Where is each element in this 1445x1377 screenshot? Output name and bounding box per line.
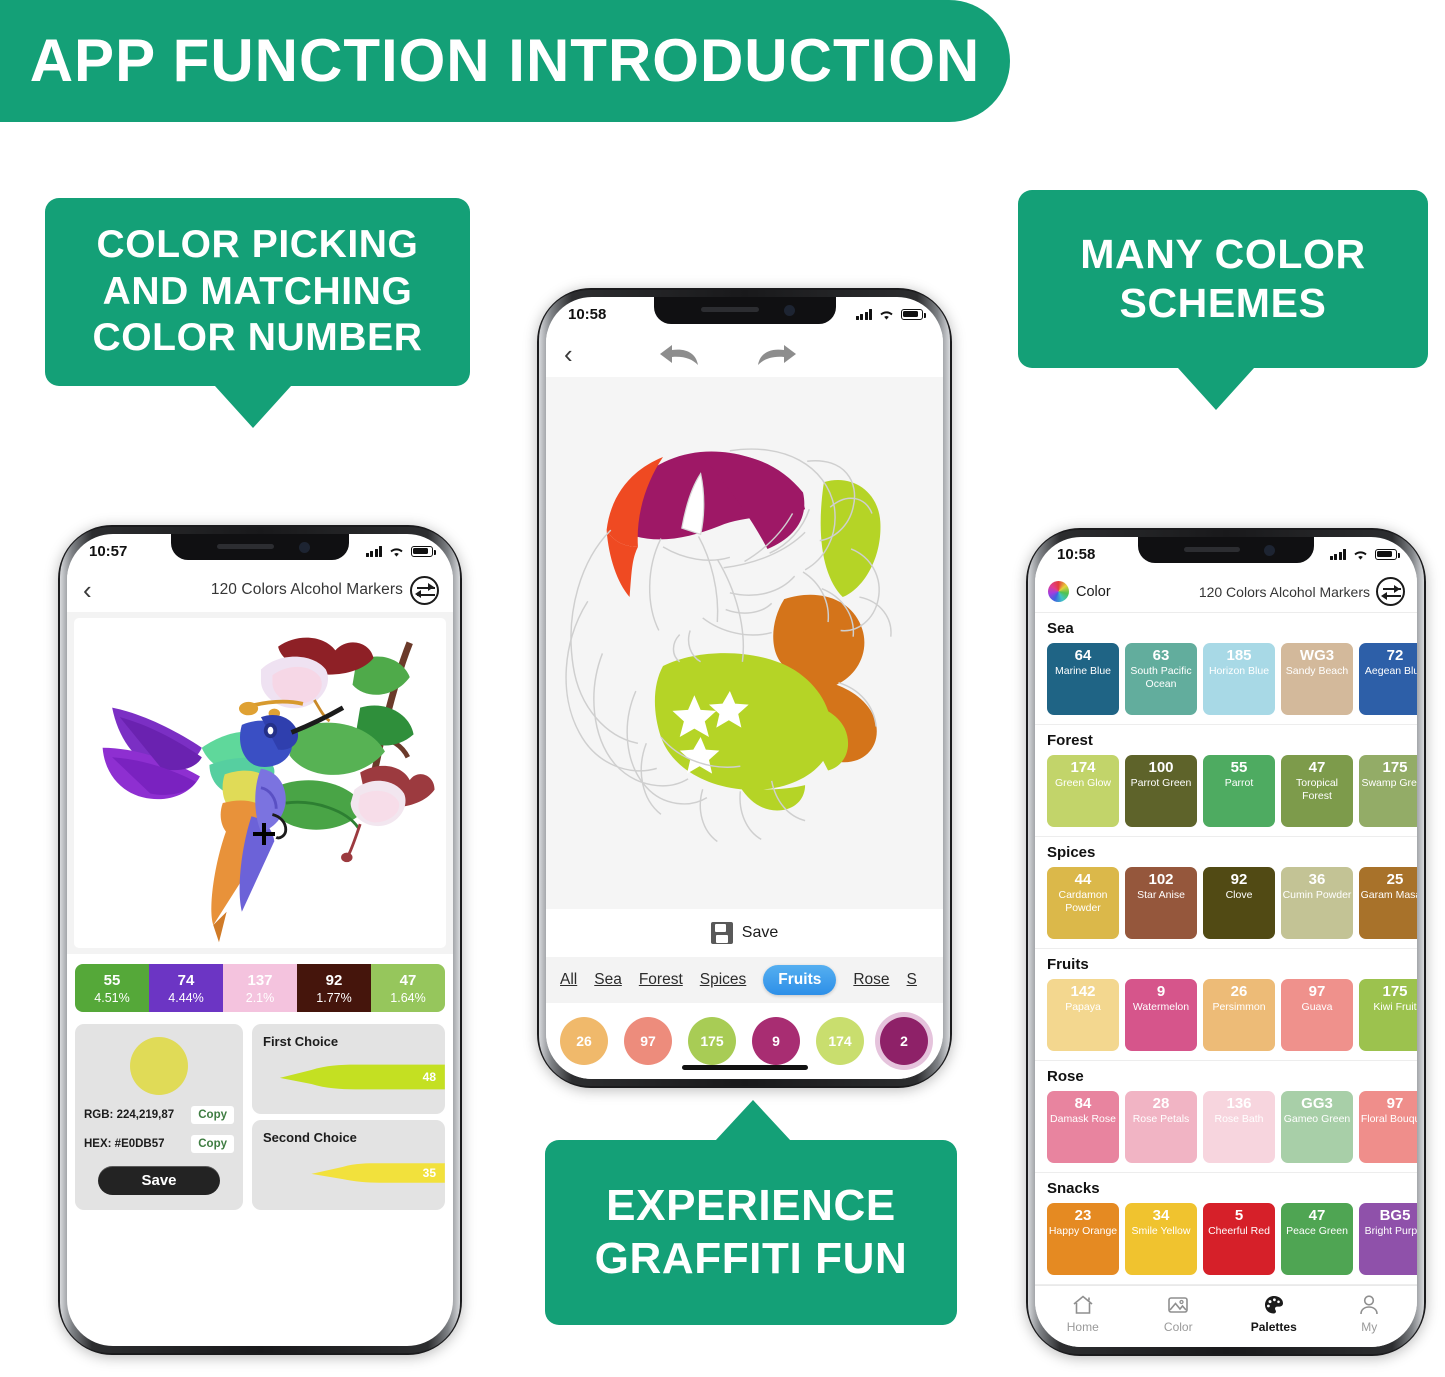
palette-group-snacks: Snacks 23 Happy Orange 34 Smile Yellow 5… xyxy=(1035,1173,1417,1285)
swatch-name: Peace Green xyxy=(1286,1225,1348,1238)
color-dot-number: 175 xyxy=(700,1033,723,1049)
swatch-name: Clove xyxy=(1226,889,1253,902)
swatch-name: Horizon Blue xyxy=(1209,665,1269,678)
percent-cell[interactable]: 74 4.44% xyxy=(149,964,223,1012)
callout-left-tail xyxy=(215,386,291,428)
swatch-card[interactable]: WG3 Sandy Beach xyxy=(1281,643,1353,715)
percent-cell[interactable]: 55 4.51% xyxy=(75,964,149,1012)
color-picker-crosshair-icon[interactable] xyxy=(253,823,275,845)
percent-cell[interactable]: 137 2.1% xyxy=(223,964,297,1012)
page-title-banner: APP FUNCTION INTRODUCTION xyxy=(0,0,1010,122)
percent-cell[interactable]: 47 1.64% xyxy=(371,964,445,1012)
percent-cell-value: 4.44% xyxy=(168,991,203,1005)
swatch-card[interactable]: 55 Parrot xyxy=(1203,755,1275,827)
swatch-name: South Pacific Ocean xyxy=(1125,665,1197,691)
wifi-icon xyxy=(1352,548,1369,561)
swatch-number: 142 xyxy=(1070,983,1095,1000)
swatch-name: Watermelon xyxy=(1133,1001,1189,1014)
status-time: 10:57 xyxy=(89,543,127,560)
phone-color-picker: 10:57 ‹ 120 Colors Alcohol Markers xyxy=(58,525,462,1355)
marker-set-title: 120 Colors Alcohol Markers xyxy=(1199,584,1370,600)
swatch-row: 84 Damask Rose 28 Rose Petals 136 Rose B… xyxy=(1047,1091,1417,1163)
swatch-card[interactable]: 26 Persimmon xyxy=(1203,979,1275,1051)
palette-group-forest: Forest 174 Green Glow 100 Parrot Green 5… xyxy=(1035,725,1417,837)
second-choice-number: 35 xyxy=(423,1166,436,1180)
group-title: Spices xyxy=(1047,844,1417,861)
callout-right-text: MANY COLOR SCHEMES xyxy=(1080,230,1365,328)
tab-label: Home xyxy=(1067,1320,1099,1334)
screen-left: 10:57 ‹ 120 Colors Alcohol Markers xyxy=(67,534,453,1346)
callout-left-bubble: COLOR PICKING AND MATCHING COLOR NUMBER xyxy=(45,198,470,386)
palette-list[interactable]: Sea 64 Marine Blue 63 South Pacific Ocea… xyxy=(1035,613,1417,1285)
swatch-number: 34 xyxy=(1153,1207,1170,1224)
bottom-tab-bar: Home Color Palettes xyxy=(1035,1285,1417,1347)
unicorn-artwork xyxy=(546,377,943,909)
swap-arrows-icon[interactable] xyxy=(410,576,439,605)
swatch-name: Guava xyxy=(1302,1001,1333,1014)
color-dot[interactable]: 97 xyxy=(624,1017,672,1065)
swatch-name: Sandy Beach xyxy=(1286,665,1348,678)
drawing-canvas[interactable] xyxy=(546,377,943,909)
swatch-name: Rose Bath xyxy=(1214,1113,1263,1126)
group-title: Fruits xyxy=(1047,956,1417,973)
swatch-number: 23 xyxy=(1075,1207,1092,1224)
swatch-name: Gameo Green xyxy=(1284,1113,1351,1126)
swatch-name: Green Glow xyxy=(1055,777,1111,790)
artwork-canvas[interactable] xyxy=(74,618,446,948)
swatch-row: 44 Cardamon Powder 102 Star Anise 92 Clo… xyxy=(1047,867,1417,939)
swatch-card[interactable]: 72 Aegean Blue xyxy=(1359,643,1417,715)
swatch-name: Toropical Forest xyxy=(1281,777,1353,803)
second-choice-marker: 35 xyxy=(275,1158,445,1188)
swatch-number: 97 xyxy=(1387,1095,1404,1112)
status-icons xyxy=(856,308,924,321)
callout-right-tail xyxy=(1178,368,1254,410)
swatch-number: 5 xyxy=(1235,1207,1243,1224)
tab-label: My xyxy=(1361,1320,1377,1334)
group-title: Snacks xyxy=(1047,1180,1417,1197)
color-nav-label: Color xyxy=(1076,584,1111,600)
swatch-name: Marine Blue xyxy=(1055,665,1111,678)
color-dot[interactable]: 9 xyxy=(752,1017,800,1065)
swatch-number: 174 xyxy=(1070,759,1095,776)
swatch-number: 44 xyxy=(1075,871,1092,888)
swatch-number: WG3 xyxy=(1300,647,1334,664)
swatch-card[interactable]: 92 Clove xyxy=(1203,867,1275,939)
swatch-name: Cheerful Red xyxy=(1208,1225,1270,1238)
percent-cell-value: 2.1% xyxy=(246,991,275,1005)
battery-icon xyxy=(1375,549,1397,560)
category-tabs[interactable]: All Sea Forest Spices Fruits Rose S xyxy=(546,957,943,1003)
group-title: Sea xyxy=(1047,620,1417,637)
status-icons xyxy=(366,545,434,558)
callout-left-text: COLOR PICKING AND MATCHING COLOR NUMBER xyxy=(92,222,422,362)
swatch-number: 100 xyxy=(1148,759,1173,776)
swatch-card[interactable]: 175 Swamp Green xyxy=(1359,755,1417,827)
tab-forest[interactable]: Forest xyxy=(639,971,683,989)
swatch-number: 36 xyxy=(1309,871,1326,888)
tab-rose[interactable]: Rose xyxy=(853,971,889,989)
swatch-name: Garam Masala xyxy=(1361,889,1417,902)
palettes-nav-bar: Color 120 Colors Alcohol Markers xyxy=(1035,571,1417,613)
swatch-number: 25 xyxy=(1387,871,1404,888)
palette-group-fruits: Fruits 142 Papaya 9 Watermelon 26 Persim… xyxy=(1035,949,1417,1061)
swatch-number: 55 xyxy=(1231,759,1248,776)
cellular-signal-icon xyxy=(1330,549,1347,560)
nav-bar: ‹ 120 Colors Alcohol Markers xyxy=(67,568,453,612)
swatch-name: Cumin Powder xyxy=(1283,889,1352,902)
swatch-name: Cardamon Powder xyxy=(1047,889,1119,915)
percent-cell-value: 4.51% xyxy=(94,991,129,1005)
group-title: Forest xyxy=(1047,732,1417,749)
swatch-name: Damask Rose xyxy=(1050,1113,1116,1126)
swatch-card[interactable]: 142 Papaya xyxy=(1047,979,1119,1051)
swatch-card[interactable]: 36 Cumin Powder xyxy=(1281,867,1353,939)
status-time: 10:58 xyxy=(1057,546,1095,563)
callout-bottom-tail xyxy=(715,1100,791,1141)
swatch-row: 64 Marine Blue 63 South Pacific Ocean 18… xyxy=(1047,643,1417,715)
undo-arrow-icon[interactable] xyxy=(656,339,702,369)
hex-row: HEX: #E0DB57 Copy xyxy=(75,1135,243,1153)
swatch-name: Smile Yellow xyxy=(1132,1225,1191,1238)
percent-cell-value: 1.77% xyxy=(316,991,351,1005)
swatch-card[interactable]: 23 Happy Orange xyxy=(1047,1203,1119,1275)
second-choice-box[interactable]: Second Choice 35 xyxy=(252,1120,445,1210)
swatch-card[interactable]: 174 Green Glow xyxy=(1047,755,1119,827)
page-title: APP FUNCTION INTRODUCTION xyxy=(30,27,981,94)
tab-my[interactable]: My xyxy=(1322,1293,1418,1334)
swatch-card[interactable]: 25 Garam Masala xyxy=(1359,867,1417,939)
color-percent-strip: 55 4.51% 74 4.44% 137 2.1% 92 1.77% 47 1… xyxy=(75,964,445,1012)
picked-color-panel: RGB: 224,219,87 Copy HEX: #E0DB57 Copy S… xyxy=(75,1024,243,1210)
redo-arrow-icon[interactable] xyxy=(754,339,800,369)
wifi-icon xyxy=(878,308,895,321)
canvas-wrapper xyxy=(67,612,453,954)
first-choice-title: First Choice xyxy=(263,1034,434,1049)
speaker xyxy=(701,307,759,312)
speaker xyxy=(1184,547,1240,552)
swatch-number: GG3 xyxy=(1301,1095,1333,1112)
tab-color[interactable]: Color xyxy=(1131,1293,1227,1334)
swatch-card[interactable]: 136 Rose Bath xyxy=(1203,1091,1275,1163)
swatch-number: 175 xyxy=(1382,983,1407,1000)
swatch-number: 28 xyxy=(1153,1095,1170,1112)
wifi-icon xyxy=(388,545,405,558)
notch xyxy=(1138,537,1314,563)
notch xyxy=(171,534,349,560)
screen-mid: 10:58 ‹ xyxy=(546,297,943,1079)
tab-sea[interactable]: Sea xyxy=(594,971,622,989)
picked-color-swatch xyxy=(130,1037,188,1095)
front-camera-icon xyxy=(784,305,795,316)
swatch-name: Swamp Green xyxy=(1361,777,1417,790)
swatch-number: 97 xyxy=(1309,983,1326,1000)
swatch-card[interactable]: 47 Toropical Forest xyxy=(1281,755,1353,827)
callout-many-schemes: MANY COLOR SCHEMES xyxy=(1018,190,1428,368)
swatch-number: 175 xyxy=(1382,759,1407,776)
person-icon xyxy=(1357,1293,1381,1317)
picked-color-section: RGB: 224,219,87 Copy HEX: #E0DB57 Copy S… xyxy=(75,1024,445,1210)
cellular-signal-icon xyxy=(856,309,873,320)
color-wheel-icon[interactable] xyxy=(1048,581,1069,602)
swatch-name: Papaya xyxy=(1065,1001,1101,1014)
swatch-card[interactable]: 5 Cheerful Red xyxy=(1203,1203,1275,1275)
callout-graffiti-fun: EXPERIENCE GRAFFITI FUN xyxy=(545,1140,957,1325)
swatch-name: Parrot xyxy=(1225,777,1254,790)
choices-panel: First Choice 48 Second Choice 35 xyxy=(252,1024,445,1210)
percent-cell-number: 137 xyxy=(247,972,272,989)
percent-cell-number: 55 xyxy=(104,972,121,989)
notch xyxy=(654,297,836,324)
tab-spices[interactable]: Spices xyxy=(700,971,747,989)
swatch-name: Persimmon xyxy=(1212,1001,1265,1014)
swatch-card[interactable]: 44 Cardamon Powder xyxy=(1047,867,1119,939)
color-dot-number: 26 xyxy=(576,1033,592,1049)
swatch-number: 64 xyxy=(1075,647,1092,664)
editor-toolbar: ‹ xyxy=(546,331,943,377)
save-bar[interactable]: Save xyxy=(546,909,943,957)
phone-graffiti-editor: 10:58 ‹ xyxy=(537,288,952,1088)
swatch-name: Floral Bouquet xyxy=(1361,1113,1417,1126)
tab-label: Palettes xyxy=(1251,1320,1297,1334)
hummingbird-artwork xyxy=(74,618,446,948)
swap-arrows-icon[interactable] xyxy=(1376,577,1405,606)
copy-rgb-button[interactable]: Copy xyxy=(191,1106,234,1124)
callout-bottom-text: EXPERIENCE GRAFFITI FUN xyxy=(595,1180,908,1286)
home-indicator[interactable] xyxy=(682,1065,808,1070)
swatch-number: 26 xyxy=(1231,983,1248,1000)
swatch-number: 47 xyxy=(1309,1207,1326,1224)
tab-snacks[interactable]: S xyxy=(907,971,917,989)
percent-cell-number: 74 xyxy=(178,972,195,989)
color-dot-number: 9 xyxy=(772,1033,780,1049)
chevron-left-icon[interactable]: ‹ xyxy=(564,341,588,367)
swatch-name: Rose Petals xyxy=(1133,1113,1190,1126)
percent-cell-value: 1.64% xyxy=(390,991,425,1005)
swatch-number: 84 xyxy=(1075,1095,1092,1112)
swatch-card[interactable]: 34 Smile Yellow xyxy=(1125,1203,1197,1275)
swatch-card[interactable]: 102 Star Anise xyxy=(1125,867,1197,939)
marker-set-title: 120 Colors Alcohol Markers xyxy=(211,581,403,599)
front-camera-icon xyxy=(1264,545,1275,556)
swatch-card[interactable]: 100 Parrot Green xyxy=(1125,755,1197,827)
swatch-card[interactable]: 185 Horizon Blue xyxy=(1203,643,1275,715)
tab-palettes[interactable]: Palettes xyxy=(1226,1293,1322,1334)
swatch-number: 102 xyxy=(1148,871,1173,888)
swatch-name: Star Anise xyxy=(1137,889,1185,902)
first-choice-marker: 48 xyxy=(275,1062,445,1092)
chevron-left-icon[interactable]: ‹ xyxy=(83,577,107,603)
swatch-card[interactable]: 64 Marine Blue xyxy=(1047,643,1119,715)
swatch-card[interactable]: GG3 Gameo Green xyxy=(1281,1091,1353,1163)
swatch-number: 136 xyxy=(1226,1095,1251,1112)
color-dot[interactable]: 174 xyxy=(816,1017,864,1065)
first-choice-box[interactable]: First Choice 48 xyxy=(252,1024,445,1114)
floppy-disk-icon xyxy=(711,922,733,944)
palette-group-rose: Rose 84 Damask Rose 28 Rose Petals 136 R… xyxy=(1035,1061,1417,1173)
swatch-name: Aegean Blue xyxy=(1365,665,1417,678)
first-choice-number: 48 xyxy=(423,1070,436,1084)
swatch-row: 142 Papaya 9 Watermelon 26 Persimmon 97 … xyxy=(1047,979,1417,1051)
phone-palettes: 10:58 Color 120 Colors Alcohol Markers S… xyxy=(1026,528,1426,1356)
image-icon xyxy=(1166,1293,1190,1317)
cellular-signal-icon xyxy=(366,546,383,557)
status-time: 10:58 xyxy=(568,306,606,323)
palette-icon xyxy=(1262,1293,1286,1317)
rgb-label: RGB: 224,219,87 xyxy=(84,1109,174,1121)
color-dot-number: 2 xyxy=(900,1033,908,1049)
swatch-card[interactable]: 63 South Pacific Ocean xyxy=(1125,643,1197,715)
color-dot[interactable]: 26 xyxy=(560,1017,608,1065)
callout-color-picking: COLOR PICKING AND MATCHING COLOR NUMBER xyxy=(45,198,470,386)
swatch-number: 92 xyxy=(1231,871,1248,888)
swatch-number: 47 xyxy=(1309,759,1326,776)
swatch-card[interactable]: 47 Peace Green xyxy=(1281,1203,1353,1275)
save-label: Save xyxy=(742,924,778,942)
speaker xyxy=(217,544,274,549)
swatch-card[interactable]: 9 Watermelon xyxy=(1125,979,1197,1051)
percent-cell[interactable]: 92 1.77% xyxy=(297,964,371,1012)
callout-right-bubble: MANY COLOR SCHEMES xyxy=(1018,190,1428,368)
screen-right: 10:58 Color 120 Colors Alcohol Markers S… xyxy=(1035,537,1417,1347)
battery-icon xyxy=(411,546,433,557)
swatch-card[interactable]: 28 Rose Petals xyxy=(1125,1091,1197,1163)
swatch-row: 174 Green Glow 100 Parrot Green 55 Parro… xyxy=(1047,755,1417,827)
swatch-card[interactable]: 175 Kiwi Fruit xyxy=(1359,979,1417,1051)
tab-fruits[interactable]: Fruits xyxy=(763,965,836,995)
hex-label: HEX: #E0DB57 xyxy=(84,1138,165,1150)
callout-bottom-bubble: EXPERIENCE GRAFFITI FUN xyxy=(545,1140,957,1325)
tab-home[interactable]: Home xyxy=(1035,1293,1131,1334)
swatch-name: Kiwi Fruit xyxy=(1373,1001,1416,1014)
swatch-card[interactable]: 97 Guava xyxy=(1281,979,1353,1051)
color-dot[interactable]: 175 xyxy=(688,1017,736,1065)
color-dot-number: 174 xyxy=(828,1033,851,1049)
home-icon xyxy=(1071,1293,1095,1317)
copy-hex-button[interactable]: Copy xyxy=(191,1135,234,1153)
tab-label: Color xyxy=(1164,1320,1193,1334)
swatch-number: 185 xyxy=(1226,647,1251,664)
swatch-number: 9 xyxy=(1157,983,1165,1000)
front-camera-icon xyxy=(299,542,310,553)
second-choice-title: Second Choice xyxy=(263,1130,434,1145)
swatch-name: Parrot Green xyxy=(1131,777,1192,790)
swatch-card[interactable]: 97 Floral Bouquet xyxy=(1359,1091,1417,1163)
swatch-row: 23 Happy Orange 34 Smile Yellow 5 Cheerf… xyxy=(1047,1203,1417,1275)
color-dot-selected[interactable]: 2 xyxy=(880,1017,928,1065)
percent-cell-number: 92 xyxy=(326,972,343,989)
palette-group-sea: Sea 64 Marine Blue 63 South Pacific Ocea… xyxy=(1035,613,1417,725)
swatch-number: BG5 xyxy=(1380,1207,1411,1224)
percent-cell-number: 47 xyxy=(400,972,417,989)
save-button[interactable]: Save xyxy=(98,1166,220,1195)
swatch-number: 63 xyxy=(1153,647,1170,664)
group-title: Rose xyxy=(1047,1068,1417,1085)
battery-icon xyxy=(901,309,923,320)
swatch-card[interactable]: 84 Damask Rose xyxy=(1047,1091,1119,1163)
swatch-number: 72 xyxy=(1387,647,1404,664)
marker-nib-shape xyxy=(275,1062,445,1092)
rgb-row: RGB: 224,219,87 Copy xyxy=(75,1106,243,1124)
status-icons xyxy=(1330,548,1398,561)
palette-group-spices: Spices 44 Cardamon Powder 102 Star Anise… xyxy=(1035,837,1417,949)
swatch-name: Bright Purple xyxy=(1365,1225,1417,1238)
tab-all[interactable]: All xyxy=(560,971,577,989)
marker-nib-shape xyxy=(275,1158,445,1188)
swatch-card[interactable]: BG5 Bright Purple xyxy=(1359,1203,1417,1275)
color-dot-number: 97 xyxy=(640,1033,656,1049)
swatch-name: Happy Orange xyxy=(1049,1225,1117,1238)
